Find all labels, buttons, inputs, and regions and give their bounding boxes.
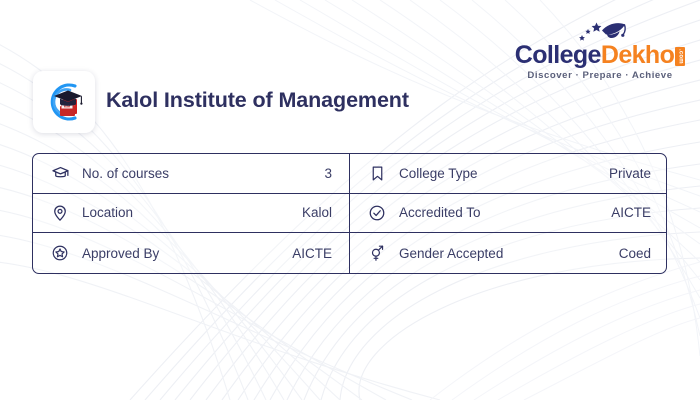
page-title: Kalol Institute of Management — [106, 88, 409, 113]
info-value: Kalol — [302, 205, 332, 220]
info-label: College Type — [399, 166, 609, 181]
info-cell-location: Location Kalol — [33, 194, 350, 234]
brand-name-college: College — [515, 43, 601, 68]
brand-tagline: Discover · Prepare · Achieve — [516, 70, 684, 81]
info-label: Gender Accepted — [399, 246, 619, 261]
brand-wordmark: CollegeDekho.com — [516, 43, 684, 68]
info-value: AICTE — [611, 205, 651, 220]
info-cell-college-type: College Type Private — [350, 154, 667, 194]
brand-name-dekho: Dekho — [601, 43, 674, 68]
info-cell-gender-accepted: Gender Accepted Coed — [350, 233, 667, 273]
info-value: 3 — [324, 166, 332, 181]
brand-domain-badge: .com — [675, 47, 685, 66]
college-info-table: No. of courses 3 College Type Private Lo… — [32, 153, 667, 274]
info-cell-approved-by: Approved By AICTE — [33, 233, 350, 273]
info-cell-no-of-courses: No. of courses 3 — [33, 154, 350, 194]
info-label: Location — [82, 205, 302, 220]
info-label: No. of courses — [82, 166, 324, 181]
award-star-icon — [49, 242, 71, 264]
info-value: AICTE — [292, 246, 332, 261]
bookmark-icon — [366, 162, 388, 184]
check-circle-icon — [366, 202, 388, 224]
info-value: Private — [609, 166, 651, 181]
info-value: Coed — [619, 246, 651, 261]
graduation-cap-icon — [49, 162, 71, 184]
collegedekho-brand-logo[interactable]: CollegeDekho.com Discover · Prepare · Ac… — [516, 18, 684, 80]
college-logo: KIM — [33, 71, 95, 133]
location-pin-icon — [49, 202, 71, 224]
info-cell-accredited-to: Accredited To AICTE — [350, 194, 667, 234]
graduation-cap-books-logo-icon: KIM — [39, 77, 89, 127]
gender-symbol-icon — [366, 242, 388, 264]
info-label: Approved By — [82, 246, 292, 261]
page-header: KIM Kalol Institute of Management Colleg… — [0, 0, 700, 150]
info-label: Accredited To — [399, 205, 611, 220]
